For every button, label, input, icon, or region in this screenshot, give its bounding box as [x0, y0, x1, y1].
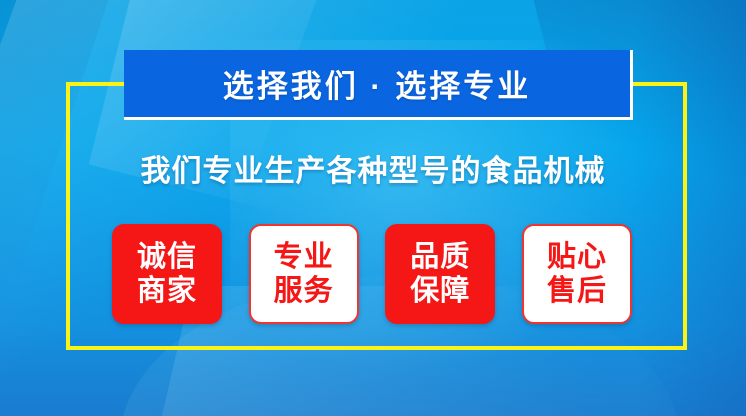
badge-item: 专业 服务 [249, 224, 359, 324]
badge-item: 贴心 售后 [522, 224, 632, 324]
badge-line-1: 品质 [410, 240, 470, 274]
badge-line-2: 保障 [410, 274, 470, 308]
badge-item: 品质 保障 [385, 224, 495, 324]
badge-item: 诚信 商家 [112, 224, 222, 324]
badge-line-1: 贴心 [547, 240, 607, 274]
badge-line-2: 售后 [547, 274, 607, 308]
badge-line-2: 商家 [137, 274, 197, 308]
banner-content: 选择我们 · 选择专业 我们专业生产各种型号的食品机械 诚信 商家 专业 服务 … [0, 0, 746, 416]
promo-banner: 选择我们 · 选择专业 我们专业生产各种型号的食品机械 诚信 商家 专业 服务 … [0, 0, 746, 416]
badge-line-1: 诚信 [137, 240, 197, 274]
badge-row: 诚信 商家 专业 服务 品质 保障 贴心 售后 [112, 224, 632, 324]
badge-line-1: 专业 [274, 240, 334, 274]
title-banner-box: 选择我们 · 选择专业 [124, 50, 633, 120]
banner-title: 选择我们 · 选择专业 [223, 61, 532, 106]
badge-line-2: 服务 [274, 274, 334, 308]
banner-subtitle: 我们专业生产各种型号的食品机械 [0, 146, 746, 190]
